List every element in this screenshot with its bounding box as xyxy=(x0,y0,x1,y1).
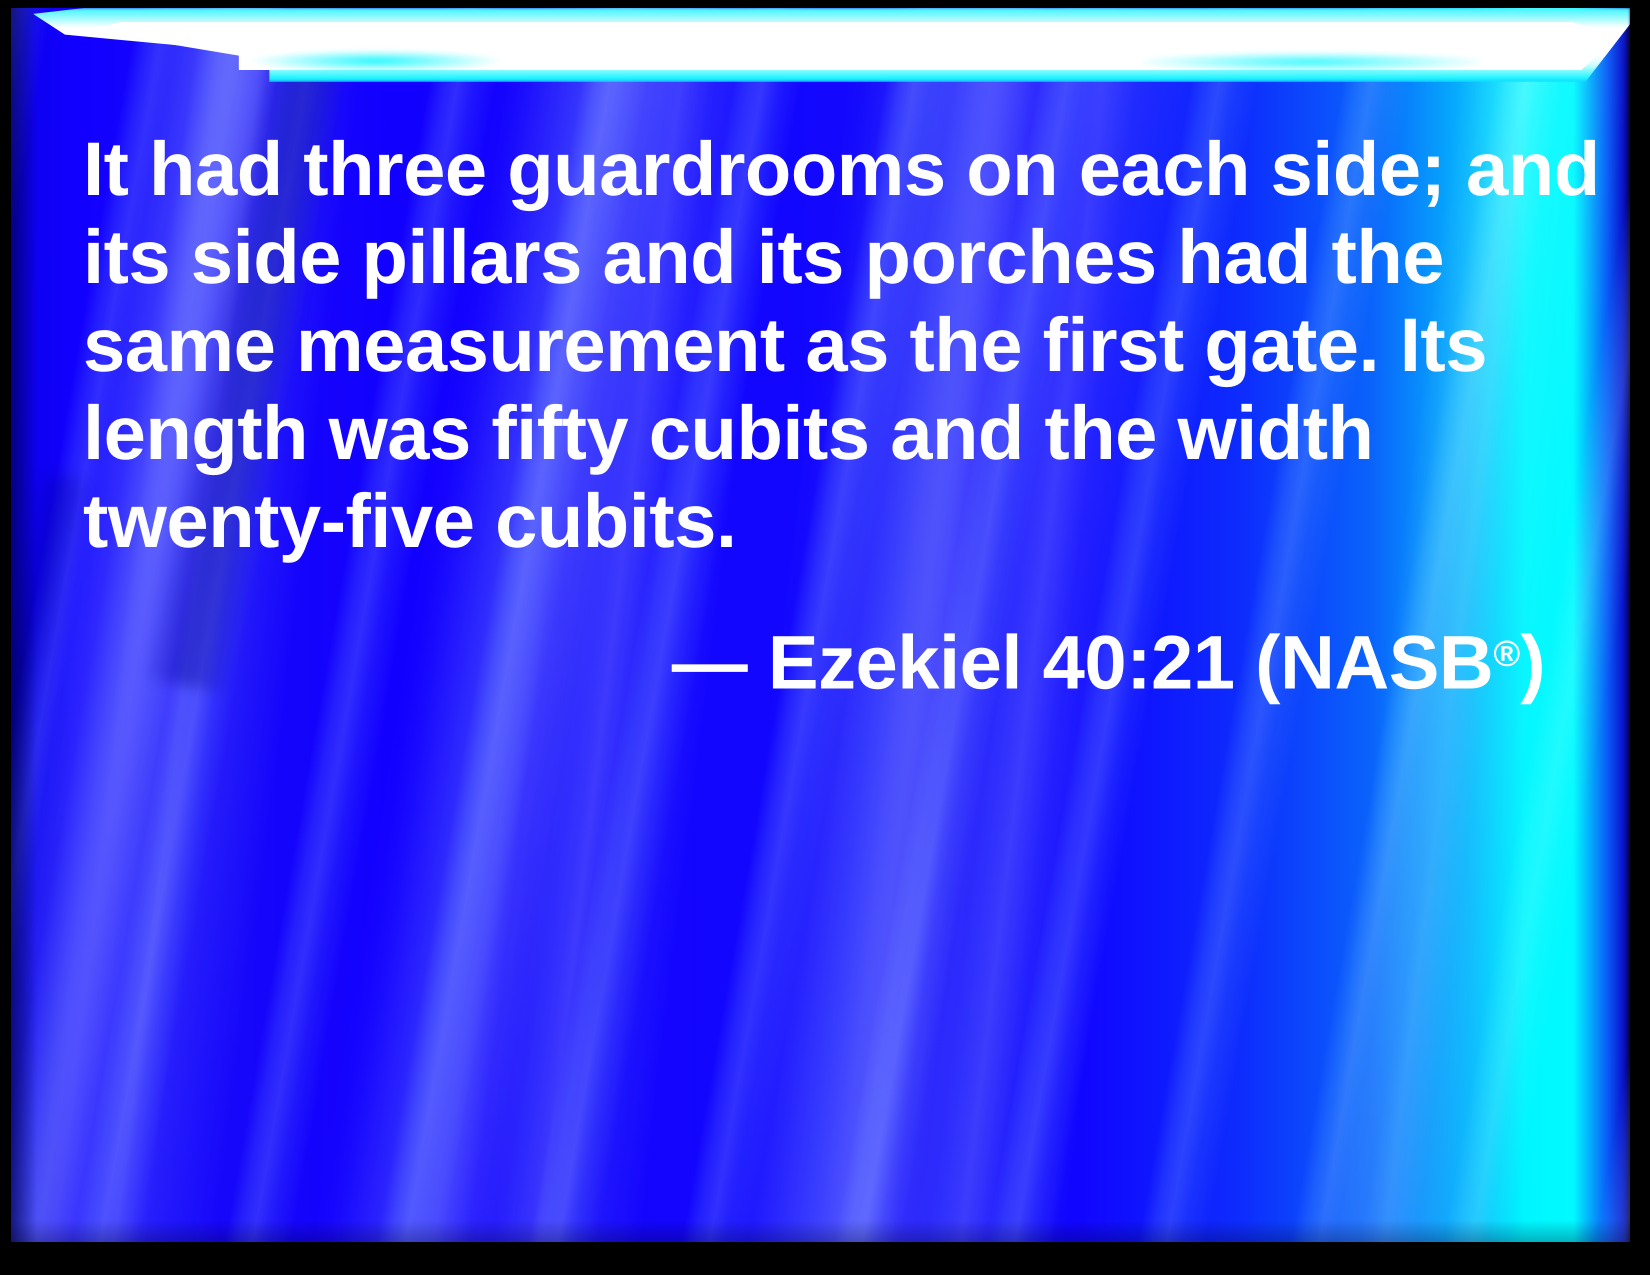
attribution-tail: ) xyxy=(1520,621,1545,706)
verse-line-5: twenty-five cubits. xyxy=(83,478,1553,566)
verse-text-block: It had three guardrooms on each side; an… xyxy=(83,126,1553,708)
verse-line-4: length was fifty cubits and the width xyxy=(83,390,1553,478)
verse-attribution: — Ezekiel 40:21 (NASB®) xyxy=(83,610,1553,708)
verse-line-2: its side pillars and its porches had the xyxy=(83,214,1553,302)
verse-line-3: same measurement as the first gate. Its xyxy=(83,302,1553,390)
slide-canvas: It had three guardrooms on each side; an… xyxy=(11,8,1630,1242)
verse-line-1: It had three guardrooms on each side; an… xyxy=(83,126,1553,214)
verse-slide: It had three guardrooms on each side; an… xyxy=(0,0,1650,1275)
attribution-main: — Ezekiel 40:21 (NASB xyxy=(672,621,1494,706)
registered-trademark-icon: ® xyxy=(1493,633,1520,674)
